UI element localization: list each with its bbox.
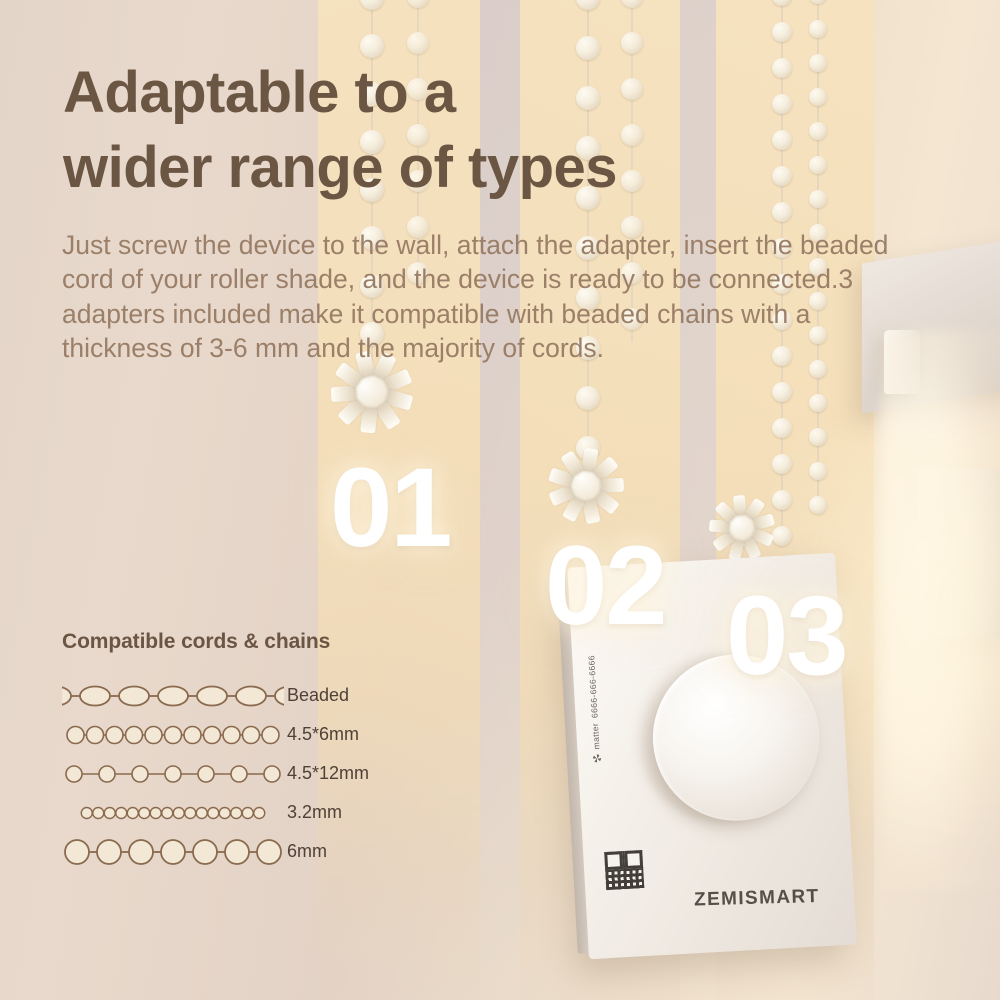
- chain-bead: [809, 394, 827, 412]
- compatibility-row: Beaded: [62, 676, 462, 715]
- compatibility-row: 4.5*6mm: [62, 715, 462, 754]
- chain-bead: [621, 0, 643, 8]
- page-title: Adaptable to a wider range of types: [63, 55, 763, 206]
- brand-logo-text: ZEMISMART: [694, 886, 820, 911]
- chain-bead: [360, 0, 384, 10]
- product-marketing-image: matter 6666-666-6666 ZEMISMART 01 02 03 …: [0, 0, 1000, 1000]
- spaced-bead-chain-icon: [62, 759, 287, 789]
- chain-bead: [809, 190, 827, 208]
- fine-bead-chain-icon: [62, 798, 287, 828]
- chain-bead: [576, 0, 600, 10]
- compatibility-label: 3.2mm: [287, 802, 342, 823]
- chain-bead: [772, 418, 792, 438]
- matter-logo-icon: [593, 754, 601, 762]
- chain-bead: [772, 382, 792, 402]
- callout-number-03: 03: [726, 580, 847, 692]
- chain-bead: [809, 496, 827, 514]
- chain-bead: [809, 20, 827, 38]
- chain-bead: [809, 88, 827, 106]
- compatibility-list: Beaded4.5*6mm4.5*12mm3.2mm6mm: [62, 676, 462, 871]
- large-bead-chain-icon: [62, 837, 287, 867]
- heading-line-2: wider range of types: [63, 135, 617, 200]
- chain-bead: [809, 462, 827, 480]
- adapter-tooth: [601, 478, 624, 492]
- compatibility-label: 4.5*6mm: [287, 724, 359, 745]
- compatibility-row: 3.2mm: [62, 793, 462, 832]
- chain-bead: [621, 32, 643, 54]
- chain-bead: [772, 202, 792, 222]
- callout-number-02: 02: [545, 530, 666, 642]
- heading-line-1: Adaptable to a: [63, 60, 456, 125]
- body-description: Just screw the device to the wall, attac…: [62, 228, 922, 366]
- chain-bead: [772, 130, 792, 150]
- adapter-tooth: [331, 386, 357, 402]
- chain-bead: [809, 156, 827, 174]
- compatibility-row: 4.5*12mm: [62, 754, 462, 793]
- chain-bead: [772, 22, 792, 42]
- compatibility-section: Compatible cords & chains Beaded4.5*6mm4…: [62, 630, 462, 871]
- chain-bead: [772, 166, 792, 186]
- adapter-tooth: [360, 407, 377, 433]
- chain-bead: [407, 0, 429, 8]
- compatibility-row: 6mm: [62, 832, 462, 871]
- chain-bead: [809, 428, 827, 446]
- chain-bead: [772, 94, 792, 114]
- chain-bead: [576, 386, 600, 410]
- beaded-oval-chain-icon: [62, 681, 287, 711]
- compatibility-label: 6mm: [287, 841, 327, 862]
- chain-bead: [809, 0, 827, 4]
- chain-bead: [772, 0, 792, 6]
- chain-bead: [809, 54, 827, 72]
- chain-bead: [772, 454, 792, 474]
- compatibility-label: Beaded: [287, 685, 349, 706]
- chain-bead: [407, 32, 429, 54]
- round-bead-chain-icon: [62, 720, 287, 750]
- cord-adapter-2: [538, 438, 634, 534]
- certification-text: matter: [590, 723, 601, 750]
- chain-bead: [809, 122, 827, 140]
- callout-number-01: 01: [330, 452, 451, 564]
- compatibility-title: Compatible cords & chains: [62, 630, 462, 654]
- qr-code-icon: [604, 850, 644, 890]
- chain-bead: [772, 58, 792, 78]
- compatibility-label: 4.5*12mm: [287, 763, 369, 784]
